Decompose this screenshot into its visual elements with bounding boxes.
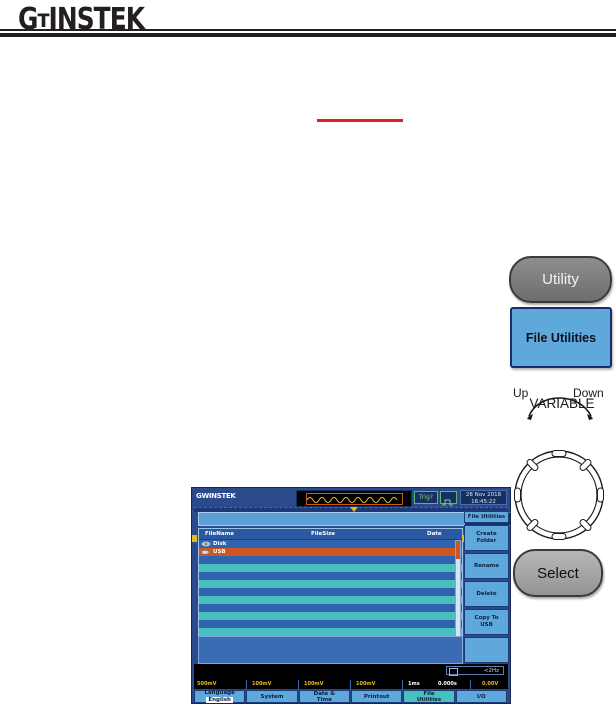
waveform-graticule: <2Hz <box>194 664 508 680</box>
status-trigger-level: 0.00V <box>482 681 498 687</box>
softkey-label: Delete <box>476 591 496 598</box>
frequency-value: <2Hz <box>484 668 499 674</box>
status-divider <box>350 680 351 689</box>
status-ch4: 100mV <box>356 681 376 687</box>
variable-knob[interactable] <box>513 449 605 541</box>
page-header: GᴛINSTEK <box>0 0 616 40</box>
tab-system[interactable]: System <box>246 690 297 703</box>
selection-marker-left <box>192 535 197 542</box>
tab-printout[interactable]: Printout <box>351 690 402 703</box>
utility-button-label: Utility <box>542 271 579 288</box>
tab-language[interactable]: Language English <box>194 690 245 703</box>
tab-label: I/O <box>477 694 486 700</box>
status-ch3: 100mV <box>304 681 324 687</box>
status-ch2: 100mV <box>252 681 272 687</box>
trigger-status-badge: Trig? <box>414 491 438 504</box>
file-utilities-button-label: File Utilities <box>526 331 596 345</box>
table-row[interactable]: Disk <box>199 540 462 548</box>
datetime-display: 28 Nov 2018 16:45:22 <box>460 490 507 505</box>
scope-brand-logo: GWINSTEK <box>196 492 236 500</box>
variable-knob-label: VARIABLE <box>516 396 608 411</box>
softkey-label: Rename <box>474 563 499 570</box>
status-timebase: 1ms <box>408 681 420 687</box>
tab-date-time[interactable]: Date & Time <box>299 690 350 703</box>
trigger-status-text: Trig? <box>419 494 433 501</box>
softkey-file-utilities-title: File Utilities <box>464 511 509 523</box>
table-row[interactable] <box>199 572 462 580</box>
table-row[interactable] <box>199 588 462 596</box>
tab-label: Date & Time <box>314 691 335 703</box>
status-divider <box>470 680 471 689</box>
tab-file-utilities[interactable]: File Utilities <box>403 690 454 703</box>
file-list-scrollbar[interactable] <box>455 540 461 638</box>
status-ch1: 500mV <box>197 681 217 687</box>
file-row-name: USB <box>213 549 226 555</box>
soft-key-menu: File Utilities Create Folder Rename Dele… <box>464 511 509 664</box>
frequency-counter: <2Hz <box>446 666 504 675</box>
frequency-icon <box>449 668 458 676</box>
table-row[interactable] <box>199 564 462 572</box>
header-divider-bottom <box>0 33 616 37</box>
softkey-rename[interactable]: Rename <box>464 553 509 579</box>
status-divider <box>246 680 247 689</box>
table-row[interactable] <box>199 628 462 636</box>
channel-status-bar: 500mV 100mV 100mV 100mV 1ms 0.000s 0.00V <box>194 680 508 689</box>
tab-value-language: English <box>206 697 233 703</box>
status-divider <box>402 680 403 689</box>
softkey-label: Create Folder <box>476 531 497 545</box>
file-utilities-button[interactable]: File Utilities <box>510 307 612 368</box>
tab-label: System <box>261 694 284 700</box>
softkey-label: Copy To USB <box>474 615 498 629</box>
file-browser-table[interactable]: FileName FileSize Date Disk USB <box>198 528 463 638</box>
bottom-menu-bar: Language English System Date & Time Prin… <box>194 690 508 703</box>
softkey-create-folder[interactable]: Create Folder <box>464 525 509 551</box>
tab-label: Language <box>204 690 234 696</box>
softkey-copy-to-usb[interactable]: Copy To USB <box>464 609 509 635</box>
disk-icon <box>201 541 211 547</box>
gwinstek-logo: GᴛINSTEK <box>18 2 144 37</box>
waveform-trace-icon <box>307 494 401 503</box>
column-header-filesize: FileSize <box>311 531 335 537</box>
table-row[interactable] <box>199 580 462 588</box>
table-row[interactable] <box>199 596 462 604</box>
table-row[interactable] <box>199 620 462 628</box>
rotary-knob-icon <box>513 449 605 541</box>
tab-label: Printout <box>364 694 390 700</box>
tab-label: File Utilities <box>417 691 441 703</box>
table-row[interactable]: USB <box>199 548 462 556</box>
scope-topbar: GWINSTEK Trig? 28 Nov 2018 16:45:22 <box>192 488 510 507</box>
header-divider-top <box>0 29 616 31</box>
file-row-name: Disk <box>213 541 226 547</box>
softkey-delete[interactable]: Delete <box>464 581 509 607</box>
usb-icon <box>201 549 211 555</box>
column-header-date: Date <box>427 531 442 537</box>
trigger-slope-icon <box>440 491 457 504</box>
table-row[interactable] <box>199 604 462 612</box>
softkey-label: File Utilities <box>468 514 505 521</box>
table-row[interactable] <box>199 556 462 564</box>
utility-button[interactable]: Utility <box>509 256 612 303</box>
softkey-blank[interactable] <box>464 637 509 663</box>
file-table-header: FileName FileSize Date <box>199 529 462 540</box>
waveform-preview <box>296 490 412 507</box>
scope-date: 28 Nov 2018 <box>461 492 506 499</box>
scope-time: 16:45:22 <box>461 499 506 506</box>
red-underline-mark <box>317 119 403 122</box>
scrollbar-thumb[interactable] <box>456 541 460 559</box>
oscilloscope-screen: GWINSTEK Trig? 28 Nov 2018 16:45:22 File… <box>191 487 511 704</box>
column-header-filename: FileName <box>205 531 234 537</box>
tab-io[interactable]: I/O <box>456 690 507 703</box>
select-button-label: Select <box>537 565 579 582</box>
file-details-panel <box>198 636 463 664</box>
table-row[interactable] <box>199 612 462 620</box>
status-divider <box>298 680 299 689</box>
status-position: 0.000s <box>438 681 457 687</box>
select-button[interactable]: Select <box>513 549 603 597</box>
file-path-bar[interactable] <box>198 512 465 526</box>
